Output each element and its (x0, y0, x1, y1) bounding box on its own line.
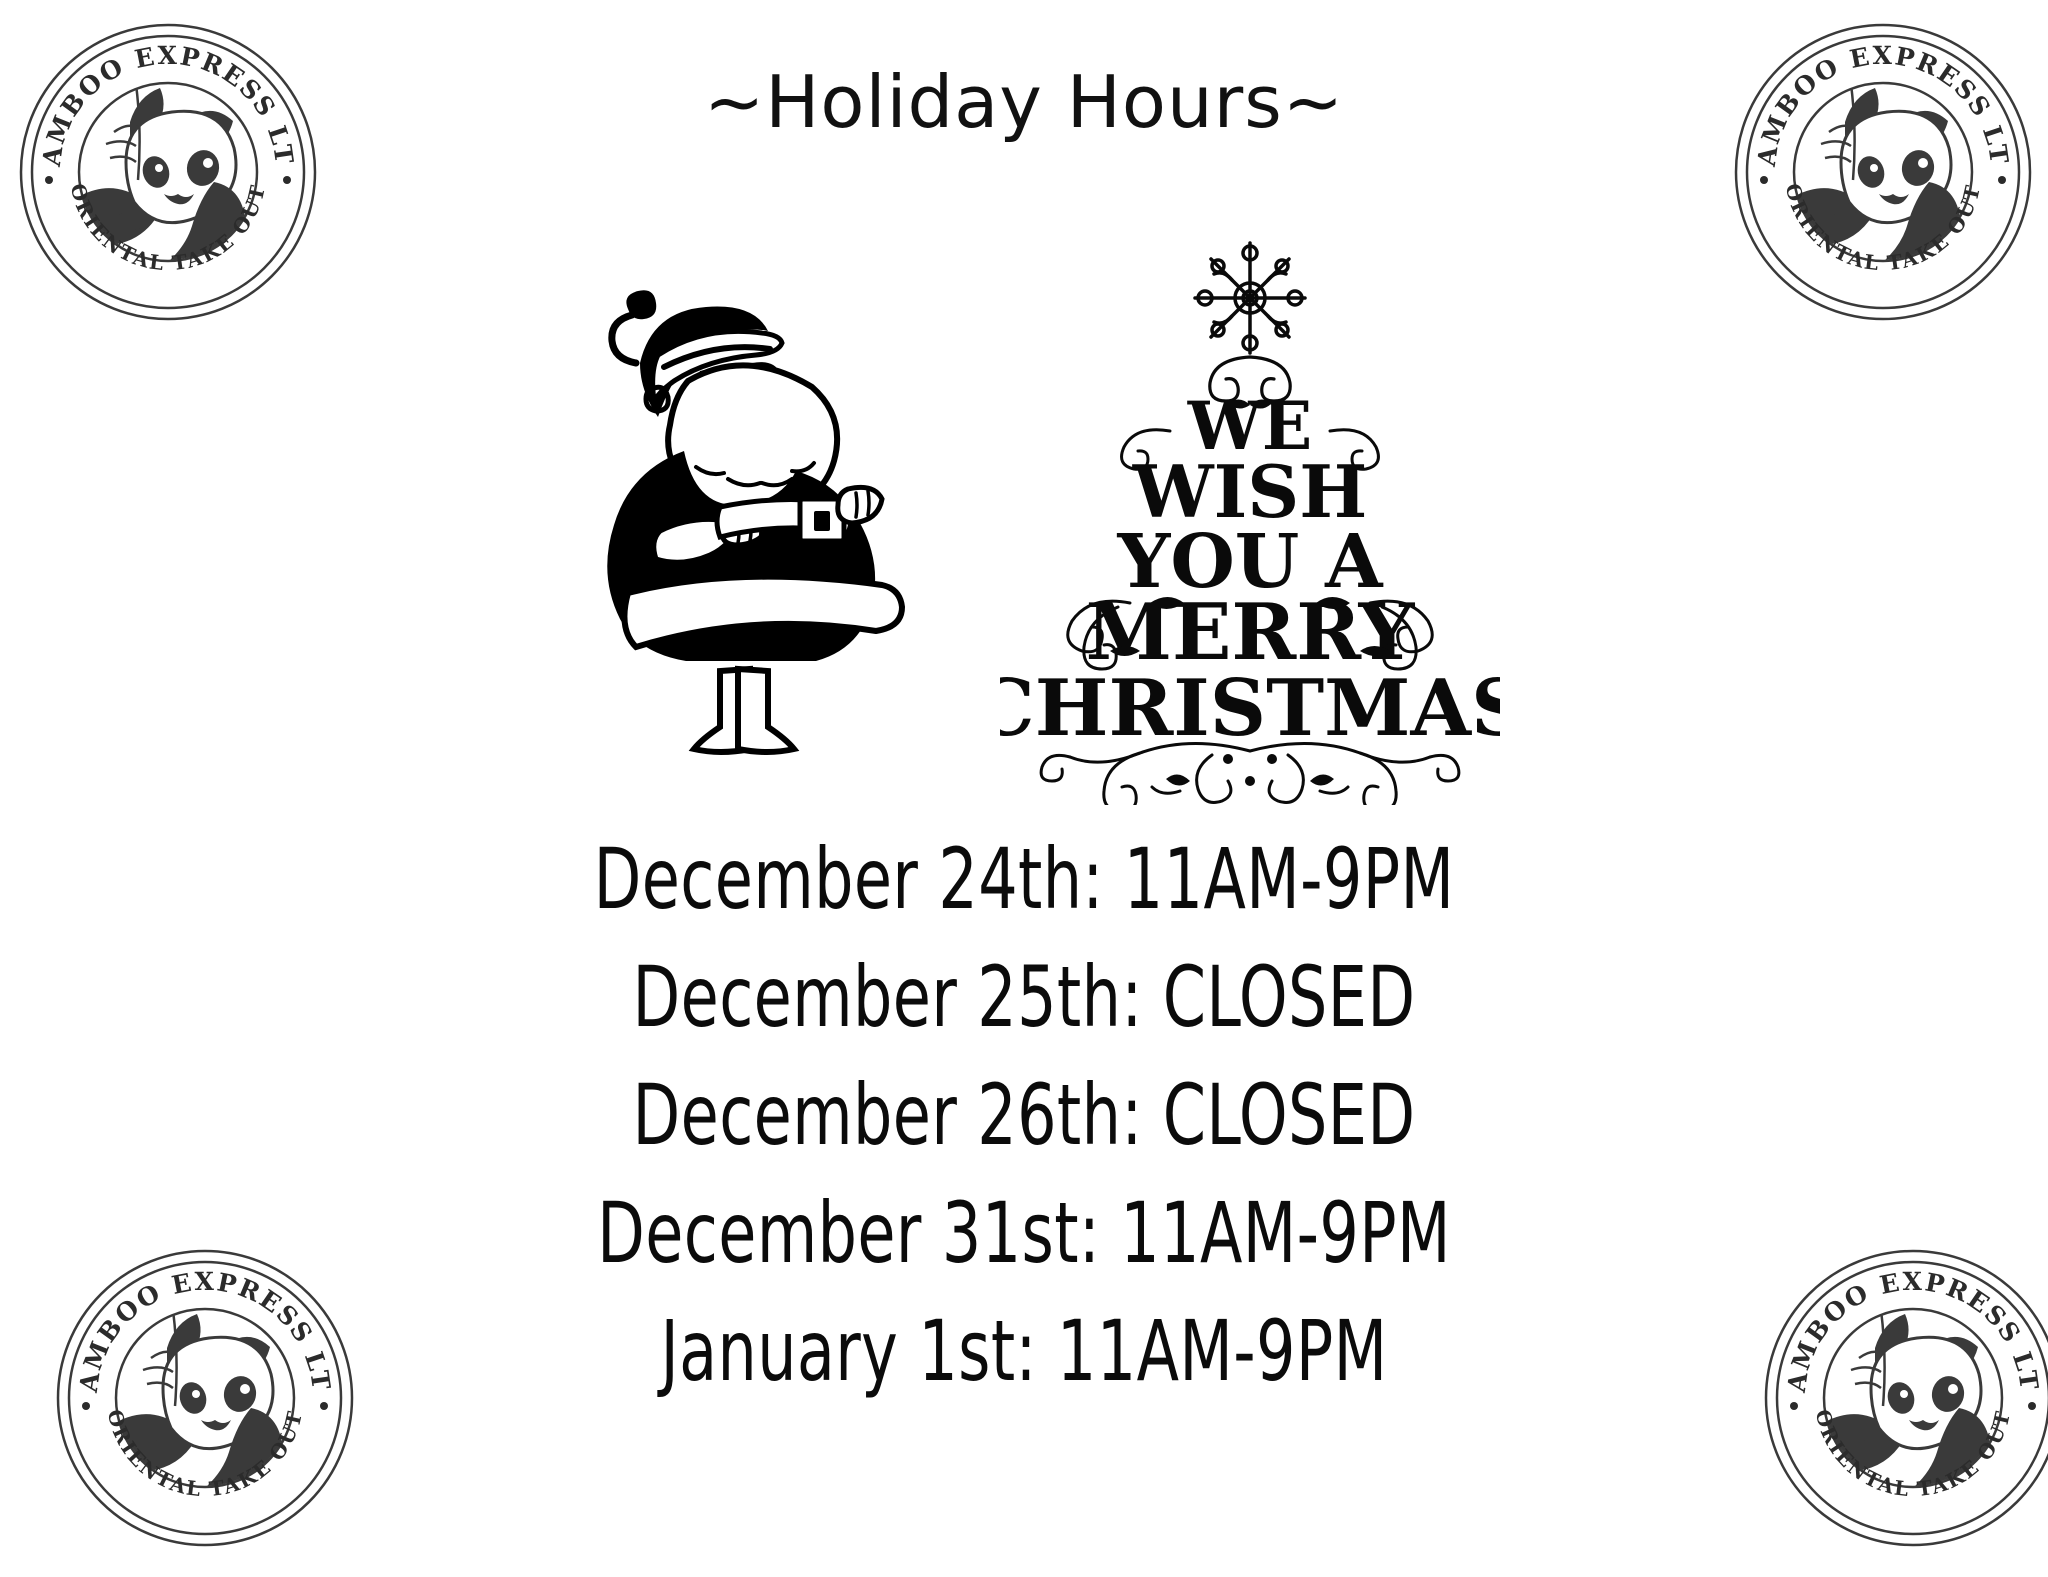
hours-row: December 31st: 11AM-9PM (184, 1174, 1863, 1292)
santa-claus-icon (592, 263, 922, 763)
snowflake-icon (1195, 243, 1305, 353)
merry-christmas-tree-graphic: WE WISH YOU A MERRY CHRISTMAS (1000, 235, 1500, 805)
hours-row: December 26th: CLOSED (184, 1056, 1863, 1174)
page-title: ~Holiday Hours~ (0, 60, 2048, 144)
holiday-hours-list: December 24th: 11AM-9PM December 25th: C… (0, 820, 2048, 1410)
tree-line-5: CHRISTMAS (1000, 663, 1500, 754)
hours-row: December 24th: 11AM-9PM (184, 820, 1863, 938)
hours-row: December 25th: CLOSED (184, 938, 1863, 1056)
hours-row: January 1st: 11AM-9PM (184, 1292, 1863, 1410)
artwork-row: WE WISH YOU A MERRY CHRISTMAS (0, 245, 2048, 815)
